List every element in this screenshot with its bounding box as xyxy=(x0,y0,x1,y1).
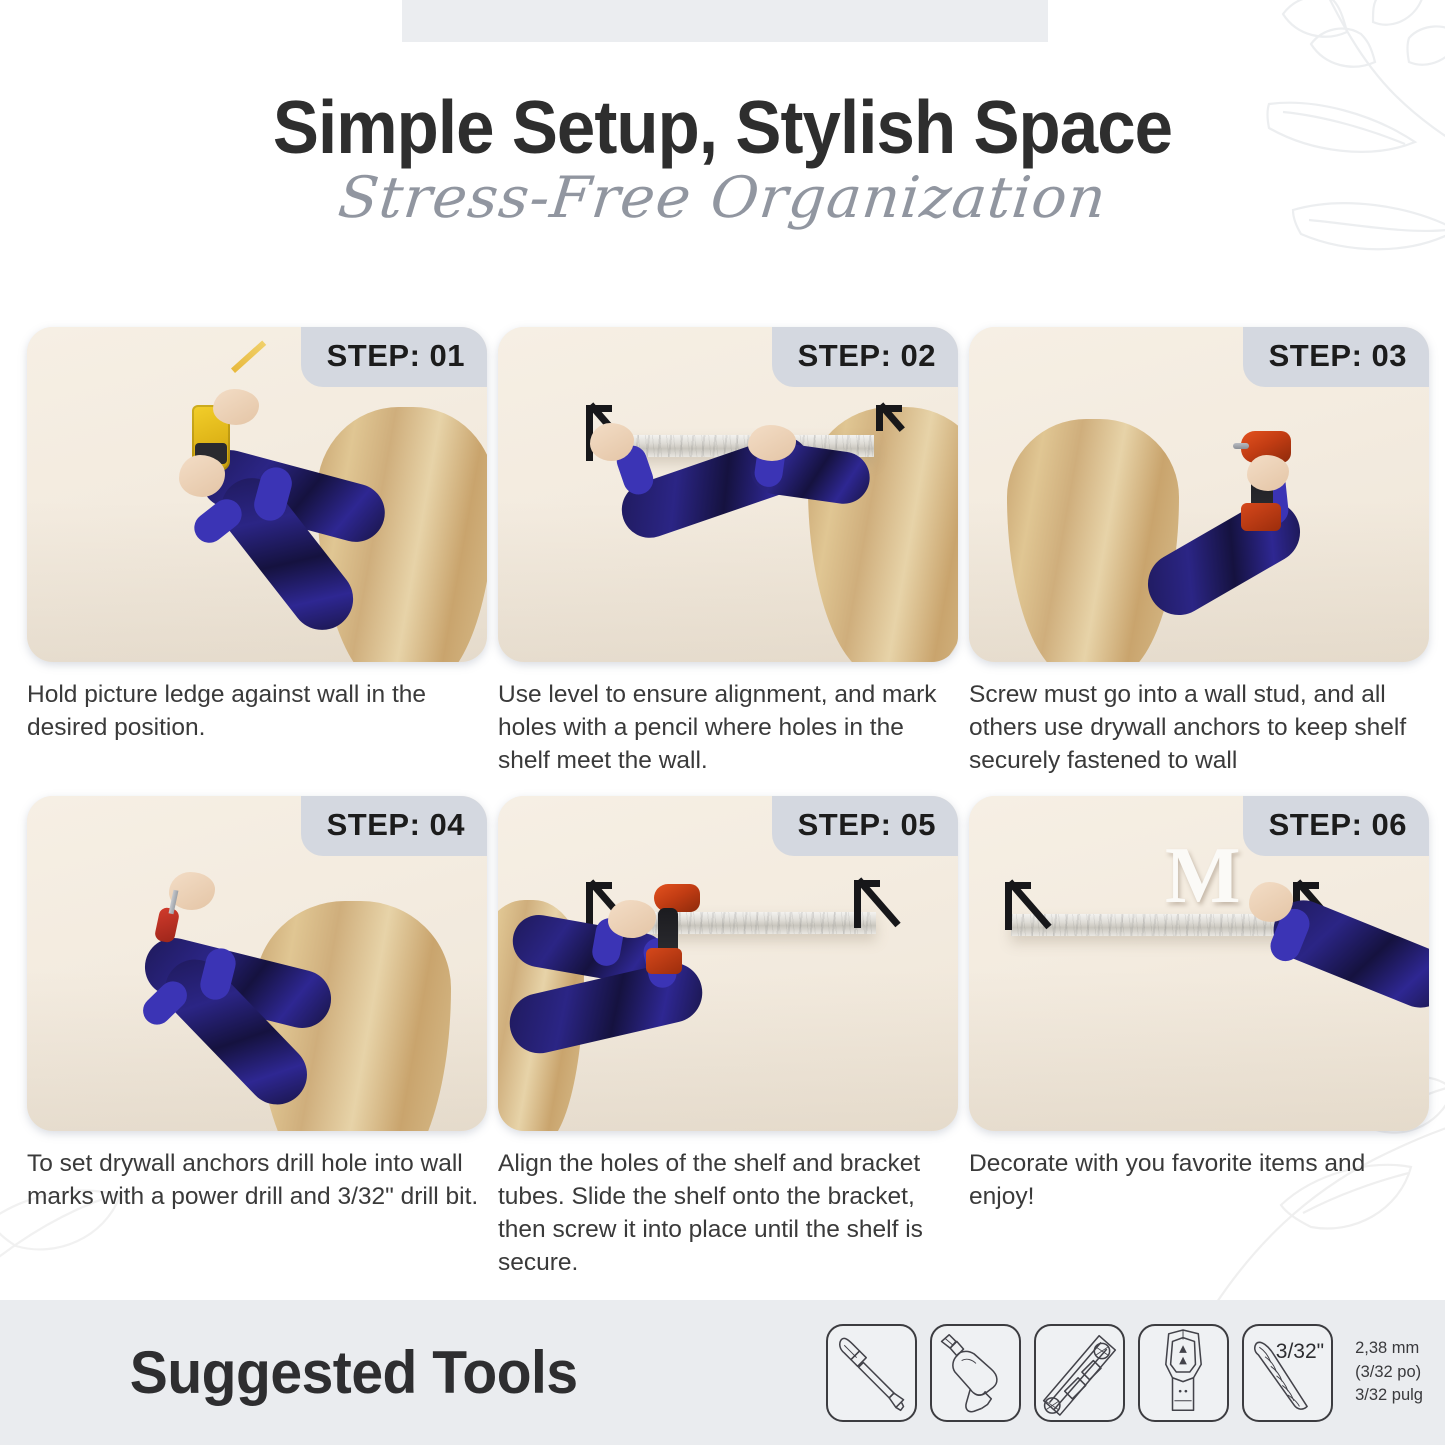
top-accent-bar xyxy=(402,0,1048,42)
tools-list: 3/32" 2,38 mm (3/32 po) 3/32 pulg xyxy=(826,1324,1423,1422)
steps-grid: STEP: 01 Hold picture ledge against wall… xyxy=(27,327,1429,1280)
step-caption-2: Use level to ensure alignment, and mark … xyxy=(498,679,958,777)
step-badge-1: STEP: 01 xyxy=(301,327,487,387)
page-title: Simple Setup, Stylish Space xyxy=(58,88,1387,167)
step-caption-6: Decorate with you favorite items and enj… xyxy=(969,1148,1429,1214)
header: Simple Setup, Stylish Space Stress-Free … xyxy=(0,88,1445,231)
step-caption-5: Align the holes of the shelf and bracket… xyxy=(498,1148,958,1279)
step-photo-6: M STEP: 06 xyxy=(969,796,1429,1131)
step-card-1: STEP: 01 Hold picture ledge against wall… xyxy=(27,327,487,777)
step-card-6: M STEP: 06 Decorate with you favorite it… xyxy=(969,796,1429,1279)
step-badge-4: STEP: 04 xyxy=(301,796,487,856)
step-caption-3: Screw must go into a wall stud, and all … xyxy=(969,679,1429,777)
level-icon xyxy=(1036,1326,1123,1420)
screwdriver-icon xyxy=(828,1326,915,1420)
tool-power-drill xyxy=(930,1324,1021,1422)
step-card-2: STEP: 02 Use level to ensure alignment, … xyxy=(498,327,958,777)
step-badge-5: STEP: 05 xyxy=(772,796,958,856)
suggested-tools-footer: Suggested Tools xyxy=(0,1300,1445,1445)
tool-stud-finder xyxy=(1138,1324,1229,1422)
tool-drill-bit: 3/32" xyxy=(1242,1324,1333,1422)
step-photo-1: STEP: 01 xyxy=(27,327,487,662)
drill-bit-measurements: 2,38 mm (3/32 po) 3/32 pulg xyxy=(1355,1337,1423,1407)
power-drill-icon xyxy=(932,1326,1019,1420)
page-subtitle: Stress-Free Organization xyxy=(0,165,1445,231)
step-card-5: STEP: 05 Align the holes of the shelf an… xyxy=(498,796,958,1279)
step-photo-4: STEP: 04 xyxy=(27,796,487,1131)
step-badge-6: STEP: 06 xyxy=(1243,796,1429,856)
step-caption-4: To set drywall anchors drill hole into w… xyxy=(27,1148,487,1214)
step-photo-3: STEP: 03 xyxy=(969,327,1429,662)
tool-level xyxy=(1034,1324,1125,1422)
step-photo-2: STEP: 02 xyxy=(498,327,958,662)
step-caption-1: Hold picture ledge against wall in the d… xyxy=(27,679,487,745)
decorative-letter-m: M xyxy=(1165,844,1241,910)
step-card-4: STEP: 04 To set drywall anchors drill ho… xyxy=(27,796,487,1279)
stud-finder-icon xyxy=(1140,1326,1227,1420)
drill-bit-size-label: 3/32" xyxy=(1276,1340,1324,1364)
step-badge-3: STEP: 03 xyxy=(1243,327,1429,387)
suggested-tools-title: Suggested Tools xyxy=(130,1338,578,1407)
step-photo-5: STEP: 05 xyxy=(498,796,958,1131)
step-badge-2: STEP: 02 xyxy=(772,327,958,387)
tool-screwdriver xyxy=(826,1324,917,1422)
step-card-3: STEP: 03 Screw must go into a wall stud,… xyxy=(969,327,1429,777)
